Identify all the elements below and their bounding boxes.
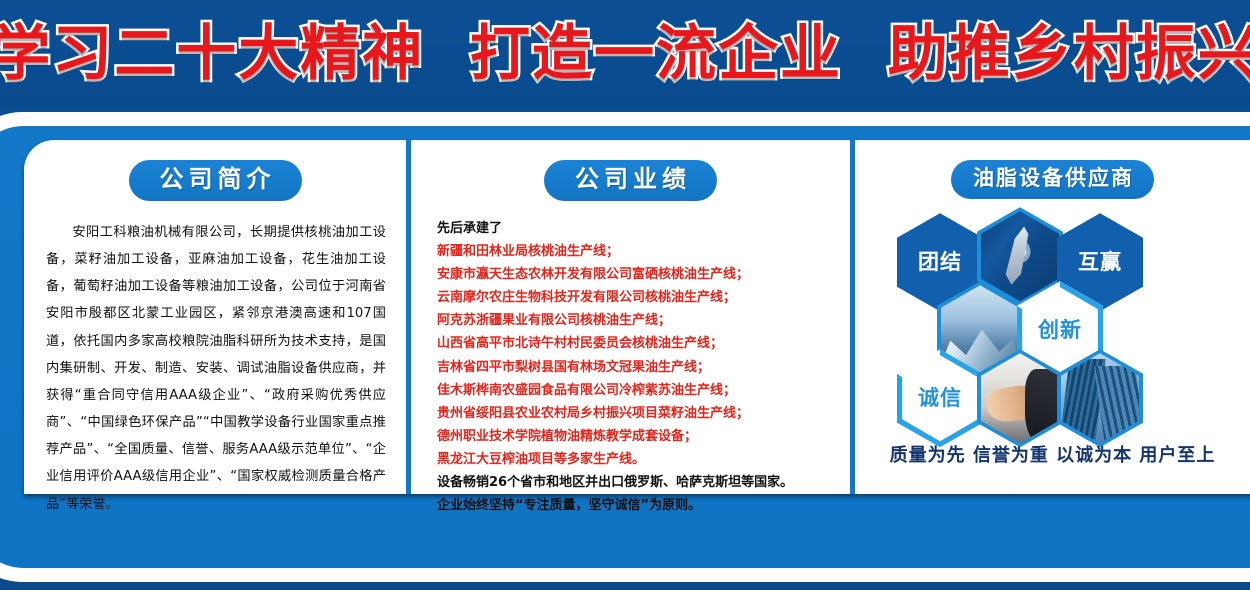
hex-image-handshake xyxy=(977,349,1063,447)
poster-root: 学习二十大精神 打造一流企业 助推乡村振兴 公司简介 安阳工科粮油机械有限公司，… xyxy=(0,0,1250,590)
company-profile-title-wrap: 公司简介 xyxy=(24,160,406,201)
supplier-title-wrap: 油脂设备供应商 xyxy=(855,160,1250,199)
performance-project: 吉林省四平市梨树县国有林场文冠果油生产线； xyxy=(437,356,850,379)
company-performance-title-wrap: 公司业绩 xyxy=(411,160,850,201)
performance-project: 黑龙江大豆榨油项目等多家生产线。 xyxy=(437,448,850,471)
panel-columns: 公司简介 安阳工科粮油机械有限公司，长期提供核桃油加工设备，菜籽油加工设备，亚麻… xyxy=(24,140,1250,494)
hexagon-cluster: 团结 互赢 创新 诚信 xyxy=(855,205,1250,435)
performance-project: 佳木斯桦南农盛园食品有限公司冷榨紫苏油生产线； xyxy=(437,379,850,402)
hex-label: 创新 xyxy=(1038,320,1082,341)
hex-label: 诚信 xyxy=(918,388,962,409)
performance-footer: 设备畅销26个省市和地区并出口俄罗斯、哈萨克斯坦等国家。 xyxy=(437,471,850,494)
performance-project: 安康市瀛天生态农林开发有限公司富硒核桃油生产线； xyxy=(437,263,850,286)
page-title: 学习二十大精神 打造一流企业 助推乡村振兴 xyxy=(0,24,1250,84)
header-banner: 学习二十大精神 打造一流企业 助推乡村振兴 xyxy=(0,0,1250,108)
panel-company-profile: 公司简介 安阳工科粮油机械有限公司，长期提供核桃油加工设备，菜籽油加工设备，亚麻… xyxy=(24,140,406,494)
performance-project: 新疆和田林业局核桃油生产线； xyxy=(437,240,850,263)
performance-list: 先后承建了 新疆和田林业局核桃油生产线； 安康市瀛天生态农林开发有限公司富硒核桃… xyxy=(437,217,850,518)
panel-company-performance: 公司业绩 先后承建了 新疆和田林业局核桃油生产线； 安康市瀛天生态农林开发有限公… xyxy=(406,140,850,494)
hex-label: 互赢 xyxy=(1078,252,1122,273)
performance-project: 云南摩尔农庄生物科技开发有限公司核桃油生产线； xyxy=(437,286,850,309)
performance-project: 阿克苏浙疆果业有限公司核桃油生产线； xyxy=(437,309,850,332)
hex-image-skyscraper xyxy=(1057,349,1143,447)
company-performance-title: 公司业绩 xyxy=(544,160,717,201)
performance-lead: 先后承建了 xyxy=(437,217,850,240)
performance-project: 德州职业技术学院植物油精炼教学成套设备； xyxy=(437,425,850,448)
performance-footer: 企业始终坚持“专注质量，坚守诚信”为原则。 xyxy=(437,494,850,517)
panel-supplier: 油脂设备供应商 团结 互赢 xyxy=(850,140,1250,494)
hex-label: 团结 xyxy=(918,252,962,273)
company-profile-title: 公司简介 xyxy=(129,160,302,201)
company-profile-body: 安阳工科粮油机械有限公司，长期提供核桃油加工设备，菜籽油加工设备，亚麻油加工设备… xyxy=(46,219,386,518)
supplier-title: 油脂设备供应商 xyxy=(951,160,1154,199)
performance-project: 山西省高平市北诗午村村民委员会核桃油生产线； xyxy=(437,332,850,355)
performance-project: 贵州省绥阳县农业农村局乡村振兴项目菜籽油生产线； xyxy=(437,402,850,425)
